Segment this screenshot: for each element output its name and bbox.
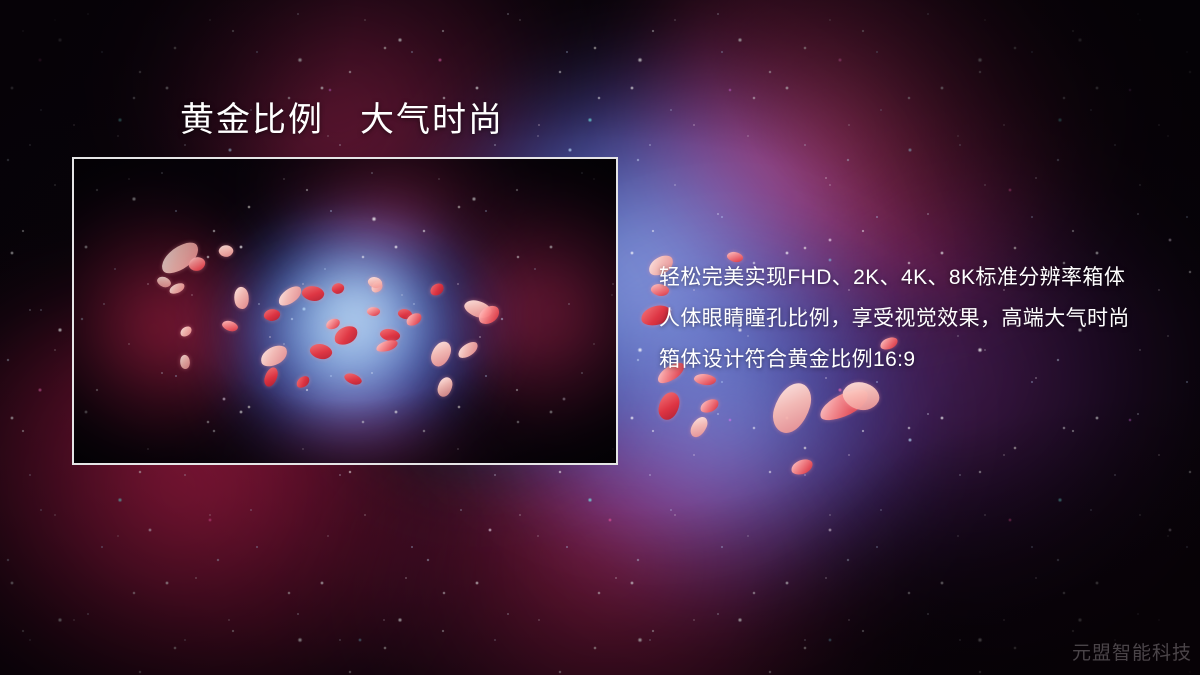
flower-petal bbox=[768, 378, 815, 437]
flower-petal bbox=[366, 306, 381, 318]
flower-petal bbox=[369, 280, 384, 294]
flower-petal bbox=[179, 325, 193, 338]
flower-petal bbox=[232, 286, 252, 311]
flower-petal bbox=[156, 238, 203, 278]
flower-petal bbox=[300, 283, 326, 304]
flower-petal bbox=[688, 414, 710, 440]
framed-nebula-image bbox=[72, 157, 618, 465]
flower-petal bbox=[379, 326, 402, 344]
nebula-magenta-top bbox=[640, 0, 1120, 300]
flower-petal bbox=[429, 282, 446, 297]
flower-petal bbox=[263, 366, 279, 388]
inner-nebula-red-left bbox=[72, 189, 254, 465]
flower-petal bbox=[217, 243, 234, 259]
inner-nebula-red-bottom bbox=[194, 399, 534, 465]
flower-petal bbox=[436, 376, 453, 398]
flower-petal bbox=[221, 318, 240, 334]
flower-petal bbox=[839, 375, 884, 417]
flower-petal bbox=[790, 458, 814, 476]
inner-nebula-red-right bbox=[454, 179, 618, 449]
flower-petal bbox=[343, 370, 364, 387]
flower-petal bbox=[397, 307, 414, 322]
flower-petal bbox=[258, 343, 290, 369]
inner-nebula-red-top bbox=[244, 157, 544, 259]
flower-petal bbox=[476, 303, 502, 326]
flower-petal bbox=[168, 282, 186, 296]
flower-petal bbox=[275, 283, 305, 308]
nebula-crimson-bottom bbox=[330, 430, 950, 675]
flower-petal bbox=[816, 385, 872, 425]
framed-starfield-c bbox=[74, 159, 616, 463]
body-copy: 轻松完美实现FHD、2K、4K、8K标准分辨率箱体 人体眼睛瞳孔比例，享受视觉效… bbox=[659, 257, 1179, 380]
flower-petal bbox=[263, 308, 281, 322]
flower-petal bbox=[155, 274, 172, 290]
flower-petal bbox=[699, 398, 721, 415]
framed-starfield-a bbox=[74, 159, 616, 463]
inner-nebula-core bbox=[224, 209, 504, 429]
body-line-3: 箱体设计符合黄金比例16:9 bbox=[659, 339, 1179, 380]
flower-petal bbox=[331, 282, 346, 296]
page-title: 黄金比例 大气时尚 bbox=[180, 101, 504, 140]
framed-image-nebula bbox=[74, 159, 616, 463]
flower-petal bbox=[332, 324, 360, 347]
framed-starfield-b bbox=[74, 159, 616, 463]
flower-petal bbox=[455, 340, 480, 361]
petal-group-inner bbox=[74, 159, 616, 463]
flower-petal bbox=[462, 296, 494, 323]
flower-petal bbox=[308, 340, 334, 362]
flower-petal bbox=[178, 354, 191, 370]
flower-petal bbox=[405, 312, 424, 328]
body-line-1: 轻松完美实现FHD、2K、4K、8K标准分辨率箱体 bbox=[659, 257, 1179, 298]
framed-image-vignette bbox=[74, 159, 616, 463]
flower-petal bbox=[366, 274, 384, 291]
inner-nebula-blue-lower bbox=[194, 279, 494, 465]
nebula-violet-right bbox=[800, 180, 1200, 620]
flower-petal bbox=[375, 339, 399, 353]
flower-petal bbox=[657, 391, 681, 422]
flower-petal bbox=[429, 339, 453, 369]
flower-petal bbox=[295, 374, 312, 389]
watermark: 元盟智能科技 bbox=[1072, 638, 1192, 665]
body-line-2: 人体眼睛瞳孔比例，享受视觉效果，高端大气时尚 bbox=[659, 298, 1179, 339]
flower-petal bbox=[188, 256, 206, 273]
inner-nebula-teal bbox=[244, 254, 444, 394]
flower-petal bbox=[325, 318, 341, 330]
slide-canvas: 黄金比例 大气时尚 轻松完美实现FHD、2K、4K、8K标准分辨率箱体 人体眼睛… bbox=[0, 0, 1200, 675]
